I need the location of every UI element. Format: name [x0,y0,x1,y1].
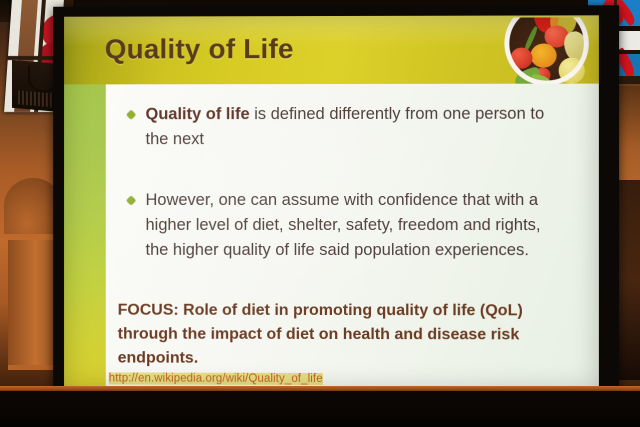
room-right-shadow [616,180,640,380]
bullet-item-text: However, one can assume with confidence … [146,188,556,263]
presentation-slide: Quality of Life [64,15,599,390]
slide-title: Quality of Life [105,33,294,65]
focus-paragraph: FOCUS: Role of diet in promoting quality… [118,299,588,372]
source-url-text: http://en.wikipedia.org/wiki/Quality_of_… [109,372,323,384]
bullet-rest-text: However, one can assume with confidence … [146,191,541,259]
room-foreground-shadow [0,391,640,427]
photo-scene: Quality of Life [0,0,640,427]
slide-content-area: Quality of life is defined differently f… [106,84,599,391]
tomato [510,48,532,69]
diamond-bullet-icon [126,110,136,120]
bullet-item: Quality of life is defined differently f… [128,102,556,152]
bullet-item-text: Quality of life is defined differently f… [146,102,556,152]
projection-screen-frame: Quality of Life [53,5,619,401]
slide-side-accent-band [64,84,106,389]
yellow-pepper [530,44,556,68]
bullet-bold-lead: Quality of life [146,105,250,123]
yellow-squash [559,58,585,84]
source-url: http://en.wikipedia.org/wiki/Quality_of_… [109,372,323,384]
speaker-grill [18,90,56,107]
bullet-item: However, one can assume with confidence … [128,188,556,263]
diamond-bullet-icon [126,196,136,206]
